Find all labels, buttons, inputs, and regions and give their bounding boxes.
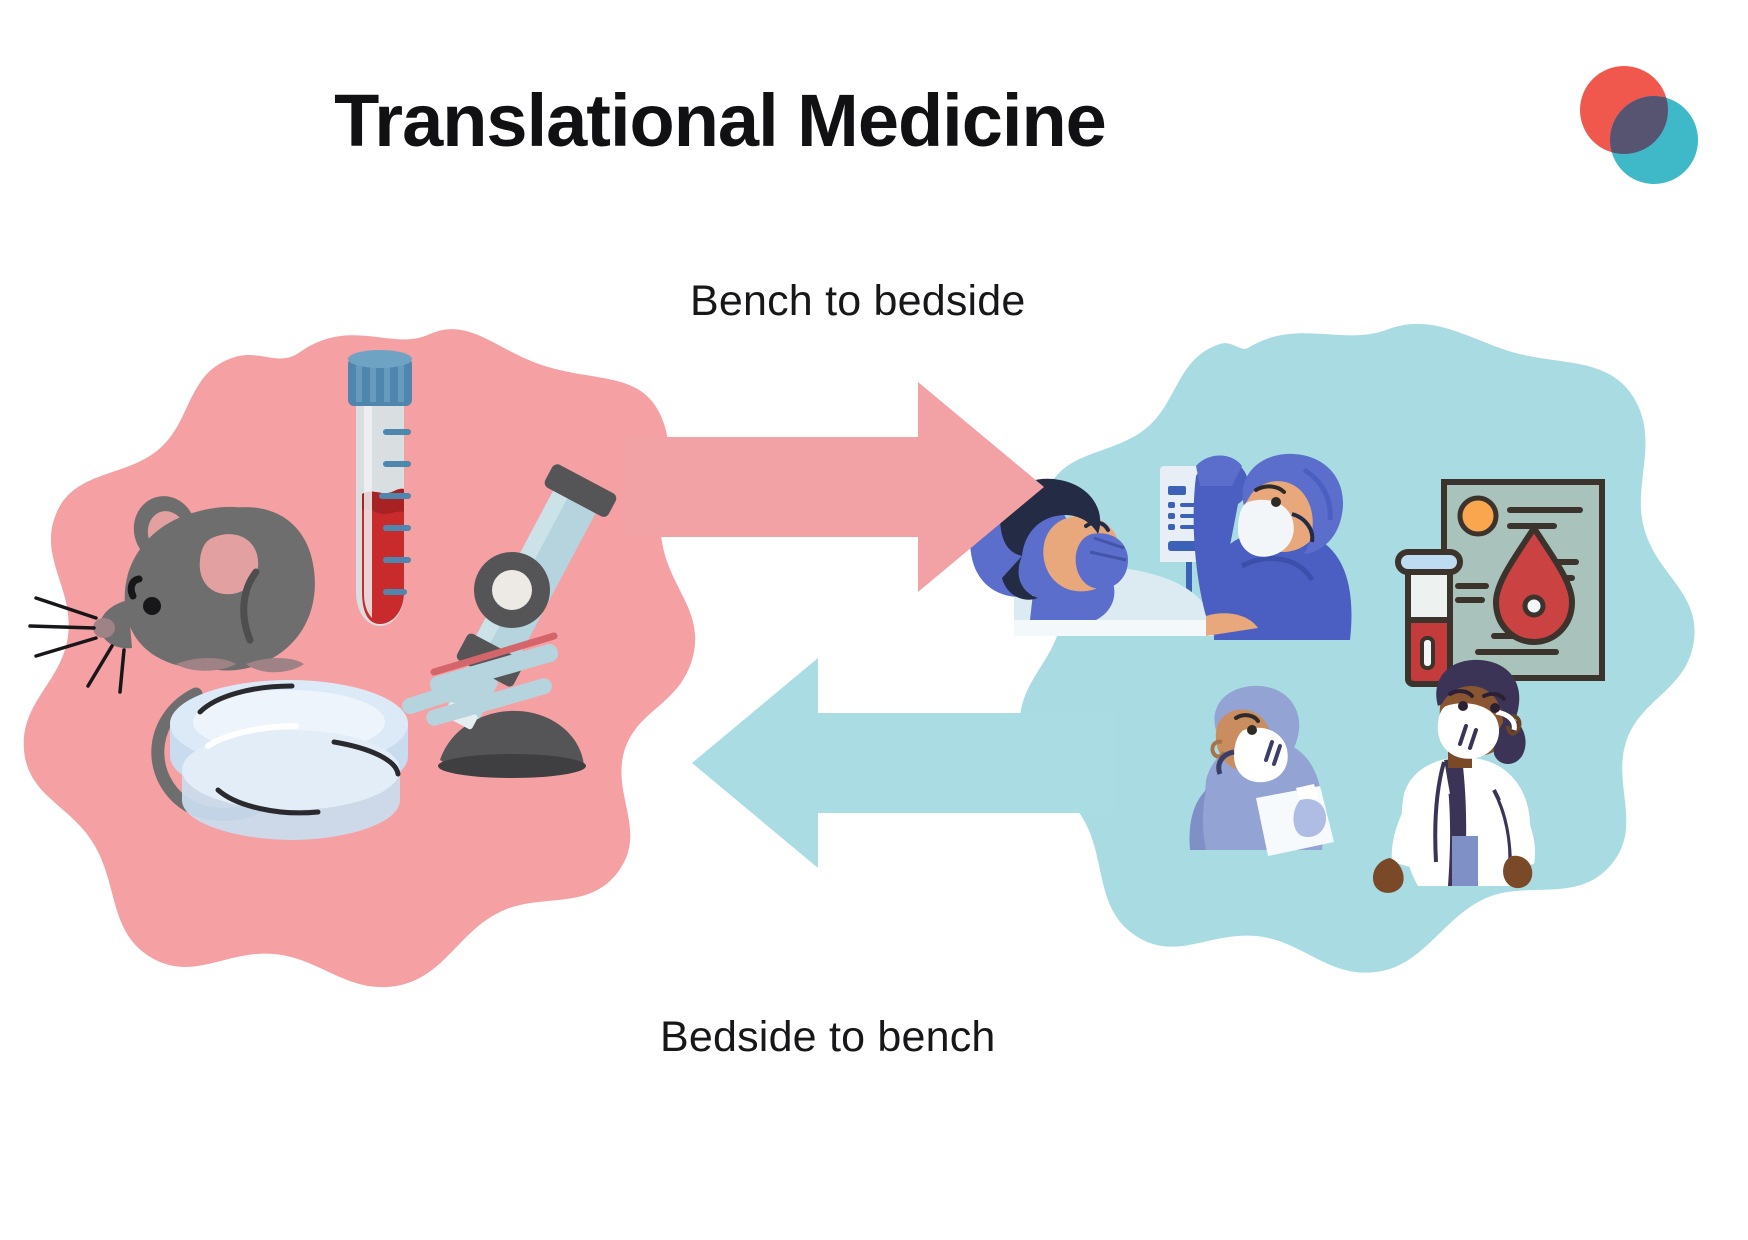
bench-to-bedside-label: Bench to bedside [690,277,1026,326]
blood-test-tube-icon [348,350,412,626]
overlapping-circles-logo [1572,62,1704,188]
page-title: Translational Medicine [0,78,1440,163]
bedside-clinical-panel [969,324,1695,973]
doctor-with-iv-icon [1194,454,1352,640]
bench-research-panel [24,329,695,987]
bedside-to-bench-label: Bedside to bench [660,1013,996,1062]
petri-dish-icon [170,680,408,840]
infographic-canvas: Translational Medicine Bench to bedside … [0,0,1748,1240]
